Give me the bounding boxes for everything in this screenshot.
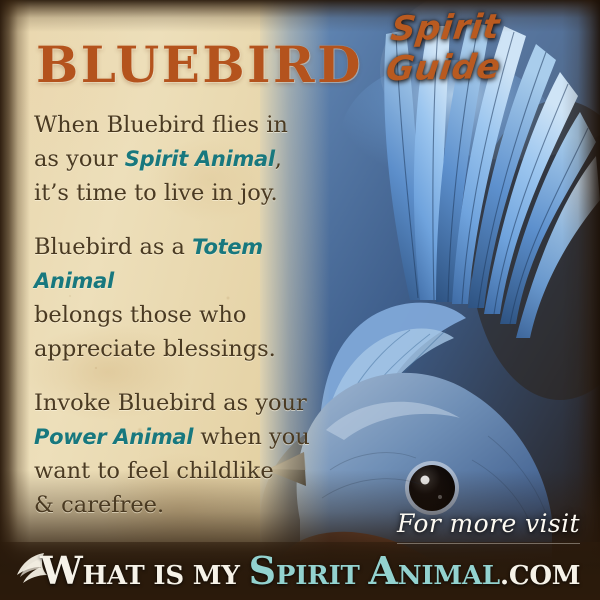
logo-a: A (369, 548, 398, 593)
text-run: When Bluebird flies in (34, 112, 288, 138)
text-run: & carefree. (34, 492, 164, 518)
logo-hat-is-my: HAT IS MY (82, 561, 248, 591)
text-run: belongs those who (34, 302, 246, 328)
bluebird-spirit-guide-poster: BLUEBIRD Spirit Guide When Bluebird flie… (0, 0, 600, 600)
logo-pirit: PIRIT (276, 561, 369, 591)
text-run: as your (34, 146, 125, 172)
call-to-action: For more visit (397, 509, 580, 544)
header: BLUEBIRD Spirit Guide (0, 22, 600, 90)
text-run: it’s time to live in joy. (34, 180, 278, 206)
accent-term: Power Animal (34, 425, 193, 449)
page-subtitle: Spirit Guide (384, 5, 600, 89)
logo-nimal: NIMAL (398, 561, 500, 591)
text-run: when you (193, 424, 310, 450)
logo-dot-com: .COM (500, 561, 580, 591)
logo-bar[interactable]: WHAT IS MY SPIRIT ANIMAL.COM (0, 542, 600, 600)
accent-term: Spirit Animal (125, 147, 275, 171)
text-run: Bluebird as a (34, 234, 192, 260)
text-run: Invoke Bluebird as your (34, 390, 307, 416)
text-run: , (275, 146, 282, 172)
paragraph-2: Bluebird as a Totem Animalbelongs those … (34, 230, 334, 366)
paragraph-3: Invoke Bluebird as yourPower Animal when… (34, 386, 334, 522)
text-run: want to feel childlike (34, 458, 274, 484)
text-run: appreciate blessings. (34, 336, 276, 362)
logo-s: S (249, 548, 276, 593)
page-title: BLUEBIRD (36, 40, 363, 90)
site-logo[interactable]: WHAT IS MY SPIRIT ANIMAL.COM (40, 552, 580, 590)
body-copy: When Bluebird flies inas your Spirit Ani… (34, 108, 334, 522)
paragraph-1: When Bluebird flies inas your Spirit Ani… (34, 108, 334, 210)
logo-w: W (40, 548, 82, 593)
